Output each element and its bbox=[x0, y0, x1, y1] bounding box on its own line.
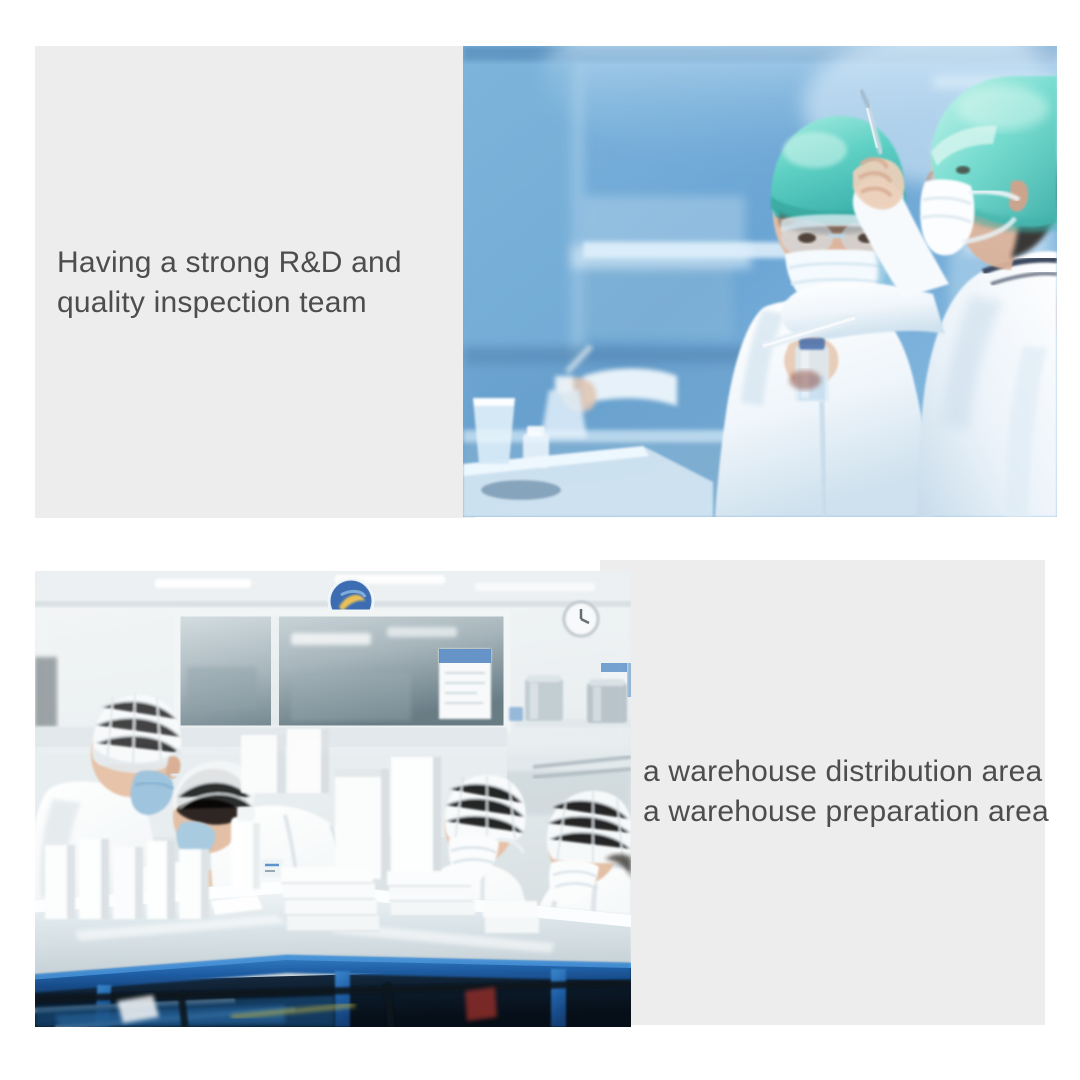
rnd-caption: Having a strong R&D and quality inspecti… bbox=[57, 243, 457, 322]
rnd-lab-photo bbox=[463, 46, 1057, 517]
warehouse-packing-illustration bbox=[35, 571, 631, 1027]
rnd-lab-illustration bbox=[463, 46, 1057, 517]
warehouse-packing-photo bbox=[35, 571, 631, 1027]
warehouse-caption: a warehouse distribution area a warehous… bbox=[643, 752, 1053, 831]
